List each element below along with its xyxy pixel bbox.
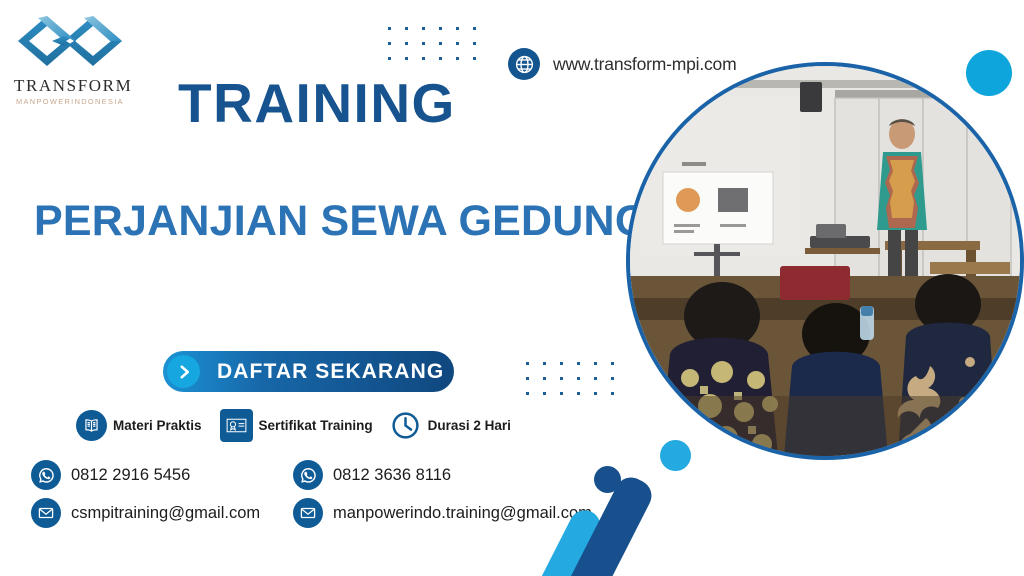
abstract-people-decoration [660, 440, 691, 471]
email-address: manpowerindo.training@gmail.com [333, 504, 592, 523]
whatsapp-icon [293, 460, 323, 490]
chevron-right-icon [167, 355, 200, 388]
globe-icon [508, 48, 540, 80]
phone-number: 0812 2916 5456 [71, 466, 190, 485]
feature-label: Materi Praktis [113, 418, 202, 433]
clock-icon [389, 409, 422, 442]
feature-item-sertifikat-training: Sertifikat Training [220, 409, 373, 442]
email-contact-1[interactable]: csmpitraining@gmail.com [31, 498, 293, 528]
cyan-circle-decoration [966, 50, 1012, 96]
training-promo-banner: TRANSFORM MANPOWERINDONESIA TRAINING PER… [0, 0, 1024, 576]
feature-list: Materi Praktis Sertifikat Training [76, 409, 511, 442]
dot-grid-decoration [526, 362, 614, 395]
abstract-people-decoration [594, 466, 621, 493]
page-subtitle: PERJANJIAN SEWA GEDUNG [34, 200, 648, 243]
transform-interlocking-diamonds-logo-icon [14, 12, 126, 74]
register-now-label: DAFTAR SEKARANG [217, 360, 444, 384]
certificate-icon [220, 409, 253, 442]
feature-item-materi-praktis: Materi Praktis [76, 410, 202, 441]
phone-row: 0812 2916 5456 0812 3636 8116 [31, 456, 592, 494]
feature-label: Durasi 2 Hari [428, 418, 511, 433]
register-now-button[interactable]: DAFTAR SEKARANG [163, 351, 454, 392]
photo-content [630, 66, 1020, 456]
email-row: csmpitraining@gmail.com manpowerindo.tra… [31, 494, 592, 532]
envelope-icon [31, 498, 61, 528]
email-address: csmpitraining@gmail.com [71, 504, 260, 523]
page-title: TRAINING [178, 76, 456, 131]
brand-name: TRANSFORM [14, 77, 126, 95]
phone-number: 0812 3636 8116 [333, 466, 451, 485]
envelope-icon [293, 498, 323, 528]
brand-tagline: MANPOWERINDONESIA [14, 97, 126, 106]
contact-block: 0812 2916 5456 0812 3636 8116 [31, 456, 592, 532]
feature-label: Sertifikat Training [259, 418, 373, 433]
whatsapp-icon [31, 460, 61, 490]
phone-contact-2[interactable]: 0812 3636 8116 [293, 460, 451, 490]
feature-item-durasi-2-hari: Durasi 2 Hari [389, 409, 511, 442]
book-icon [76, 410, 107, 441]
email-contact-2[interactable]: manpowerindo.training@gmail.com [293, 498, 592, 528]
phone-contact-1[interactable]: 0812 2916 5456 [31, 460, 293, 490]
dot-grid-decoration [388, 27, 476, 60]
training-classroom-photo [626, 62, 1024, 460]
brand-logo: TRANSFORM MANPOWERINDONESIA [14, 12, 126, 106]
